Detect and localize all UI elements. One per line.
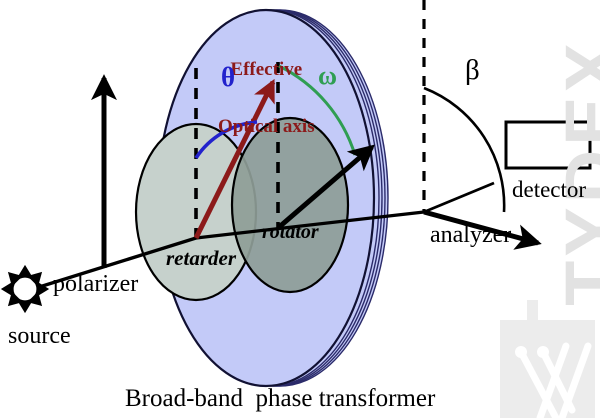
tydex-logo-icon bbox=[500, 300, 595, 418]
omega-angle-label: ω bbox=[318, 63, 337, 89]
figure-caption: Broad-band phase transformer bbox=[125, 386, 435, 411]
rotator-label: rotator bbox=[262, 222, 319, 242]
polarizer-label: polarizer bbox=[53, 272, 138, 296]
effective-optical-axis-label: Effective Optical axis bbox=[218, 22, 315, 174]
analyzer-label: analyzer bbox=[430, 223, 511, 247]
detector-label: detector bbox=[512, 178, 586, 201]
analyzer-axis-line bbox=[424, 183, 494, 212]
beta-arc bbox=[424, 88, 504, 212]
tydex-watermark: TYDEX bbox=[549, 39, 600, 306]
retarder-label: retarder bbox=[166, 248, 236, 269]
phase-transformer-diagram: TYDEX Effective Optical axis θ ω β retar… bbox=[0, 0, 600, 418]
beta-angle-label: β bbox=[465, 56, 480, 85]
sun-icon bbox=[3, 267, 47, 311]
source-label: source bbox=[8, 324, 71, 348]
effective-optical-axis-line2: Optical axis bbox=[218, 117, 315, 136]
theta-angle-label: θ bbox=[221, 64, 235, 91]
